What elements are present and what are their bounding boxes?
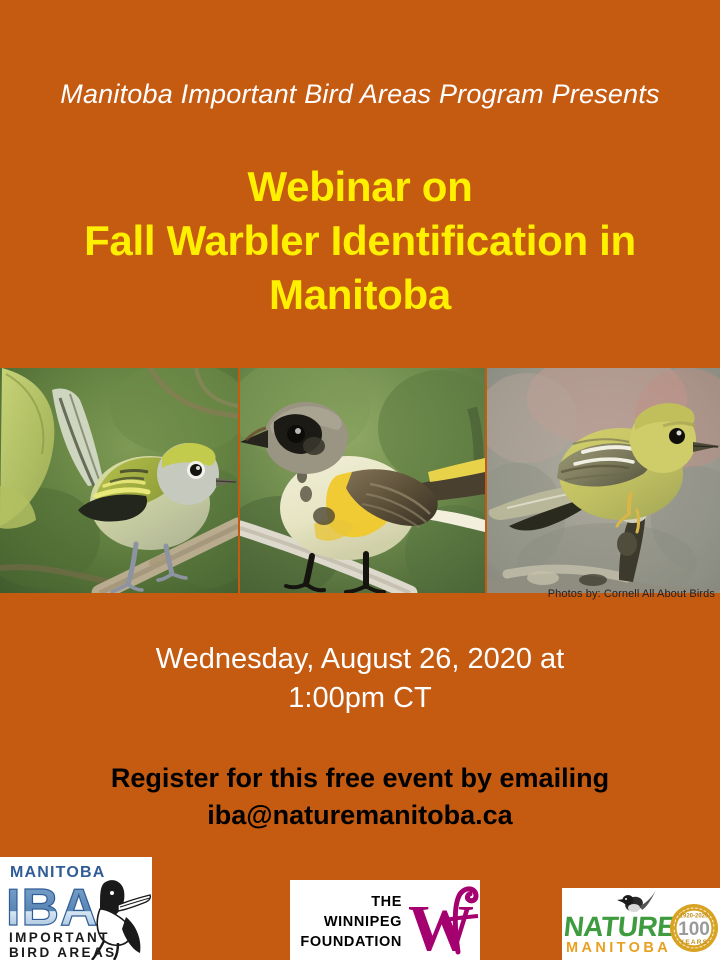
svg-text:YEARS: YEARS (680, 939, 708, 946)
winnipeg-foundation-logo[interactable]: THE WINNIPEG FOUNDATION W (290, 880, 480, 960)
chestnut-sided-warbler-photo (0, 368, 238, 593)
photo-credit: Photos by: Cornell All About Birds (548, 588, 715, 600)
register-instruction: Register for this free event by emailing (40, 760, 680, 797)
presenter-line: Manitoba Important Bird Areas Program Pr… (0, 80, 720, 110)
title-line-3: Manitoba (30, 268, 690, 322)
title-line-2: Fall Warbler Identification in (30, 214, 690, 268)
registration-block: Register for this free event by emailing… (40, 760, 680, 835)
page-title: Webinar on Fall Warbler Identification i… (30, 160, 690, 321)
svg-text:NATURE: NATURE (562, 911, 677, 942)
blackpoll-warbler-photo (487, 368, 720, 593)
event-date: Wednesday, August 26, 2020 at (60, 640, 660, 679)
svg-text:MANITOBA: MANITOBA (566, 940, 671, 956)
bird-photo-strip (0, 368, 720, 593)
american-redstart-photo (240, 368, 485, 593)
event-datetime: Wednesday, August 26, 2020 at 1:00pm CT (60, 640, 660, 718)
svg-text:BIRD AREAS: BIRD AREAS (9, 945, 117, 960)
svg-text:W: W (408, 892, 474, 960)
manitoba-iba-logo[interactable]: MANITOBA IBA (0, 857, 152, 960)
svg-text:100: 100 (678, 919, 710, 940)
svg-text:FOUNDATION: FOUNDATION (300, 934, 402, 950)
event-time: 1:00pm CT (60, 679, 660, 718)
svg-text:IMPORTANT: IMPORTANT (9, 930, 110, 945)
svg-text:THE: THE (371, 894, 402, 910)
svg-text:IBA: IBA (6, 879, 99, 937)
title-line-1: Webinar on (30, 160, 690, 214)
svg-text:WINNIPEG: WINNIPEG (324, 914, 402, 930)
poster-canvas: Manitoba Important Bird Areas Program Pr… (0, 0, 720, 960)
nature-manitoba-logo[interactable]: NATURE MANITOBA 1920-2020 100 YEARS (562, 888, 720, 960)
register-email[interactable]: iba@naturemanitoba.ca (40, 797, 680, 834)
